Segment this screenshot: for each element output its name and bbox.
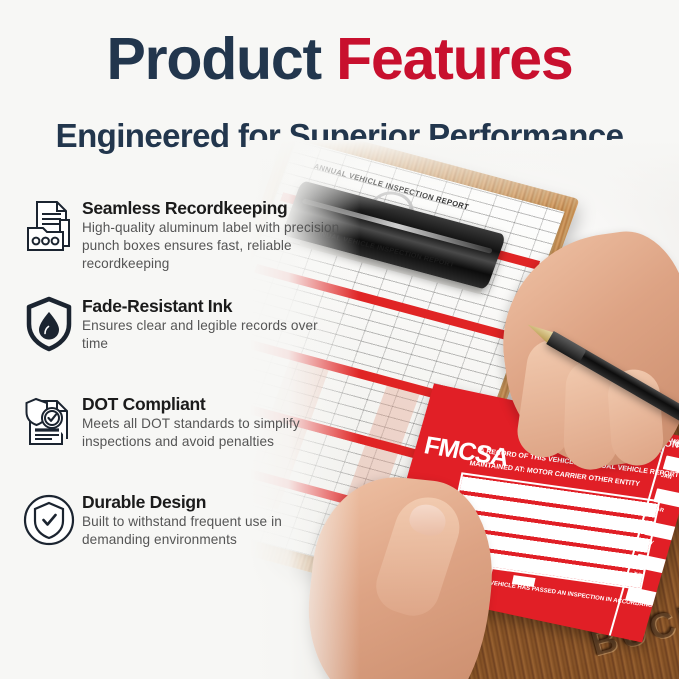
document-folder-icon (16, 196, 82, 264)
feature-item-fade-resistant-ink: Fade-Resistant Ink Ensures clear and leg… (16, 294, 346, 372)
month-header-text: MONTH (670, 438, 679, 448)
page-title-word-product: Product (106, 26, 321, 92)
feature-item-seamless-recordkeeping: Seamless Recordkeeping High-quality alum… (16, 196, 346, 274)
feature-description: Meets all DOT standards to simplify insp… (82, 415, 346, 451)
month-label-text: MAR (651, 506, 665, 514)
page-title: Product Features (0, 30, 679, 89)
feature-text-block: Fade-Resistant Ink Ensures clear and leg… (82, 294, 346, 353)
feature-item-dot-compliant: DOT Compliant Meets all DOT standards to… (16, 392, 346, 470)
month-cell (653, 488, 679, 508)
feature-title: Durable Design (82, 492, 346, 512)
month-cell (663, 455, 679, 475)
feature-description: Ensures clear and legible records over t… (82, 317, 346, 353)
feature-title: DOT Compliant (82, 394, 346, 414)
feature-item-durable-design: Durable Design Built to withstand freque… (16, 490, 346, 568)
feature-text-block: Seamless Recordkeeping High-quality alum… (82, 196, 346, 273)
document-shield-check-icon (16, 392, 82, 460)
circle-shield-check-icon (16, 490, 82, 558)
shield-droplet-icon (16, 294, 82, 362)
feature-text-block: DOT Compliant Meets all DOT standards to… (82, 392, 346, 451)
month-label-text: JUL (632, 571, 644, 579)
product-features-infographic: BUCK U.S. ANNUAL VEHICLE INSPECTION REPO… (0, 0, 679, 679)
feature-text-block: Durable Design Built to withstand freque… (82, 490, 346, 549)
feature-description: High-quality aluminum label with precisi… (82, 219, 346, 273)
month-label-text: MAY (641, 538, 654, 546)
feature-list: Seamless Recordkeeping High-quality alum… (16, 196, 346, 588)
thumbnail (406, 500, 450, 540)
thumb (369, 489, 467, 623)
page-title-word-features: Features (336, 26, 572, 92)
feature-description: Built to withstand frequent use in deman… (82, 513, 346, 549)
feature-title: Seamless Recordkeeping (82, 198, 346, 218)
feature-title: Fade-Resistant Ink (82, 296, 346, 316)
month-label-text: JAN (660, 473, 672, 481)
